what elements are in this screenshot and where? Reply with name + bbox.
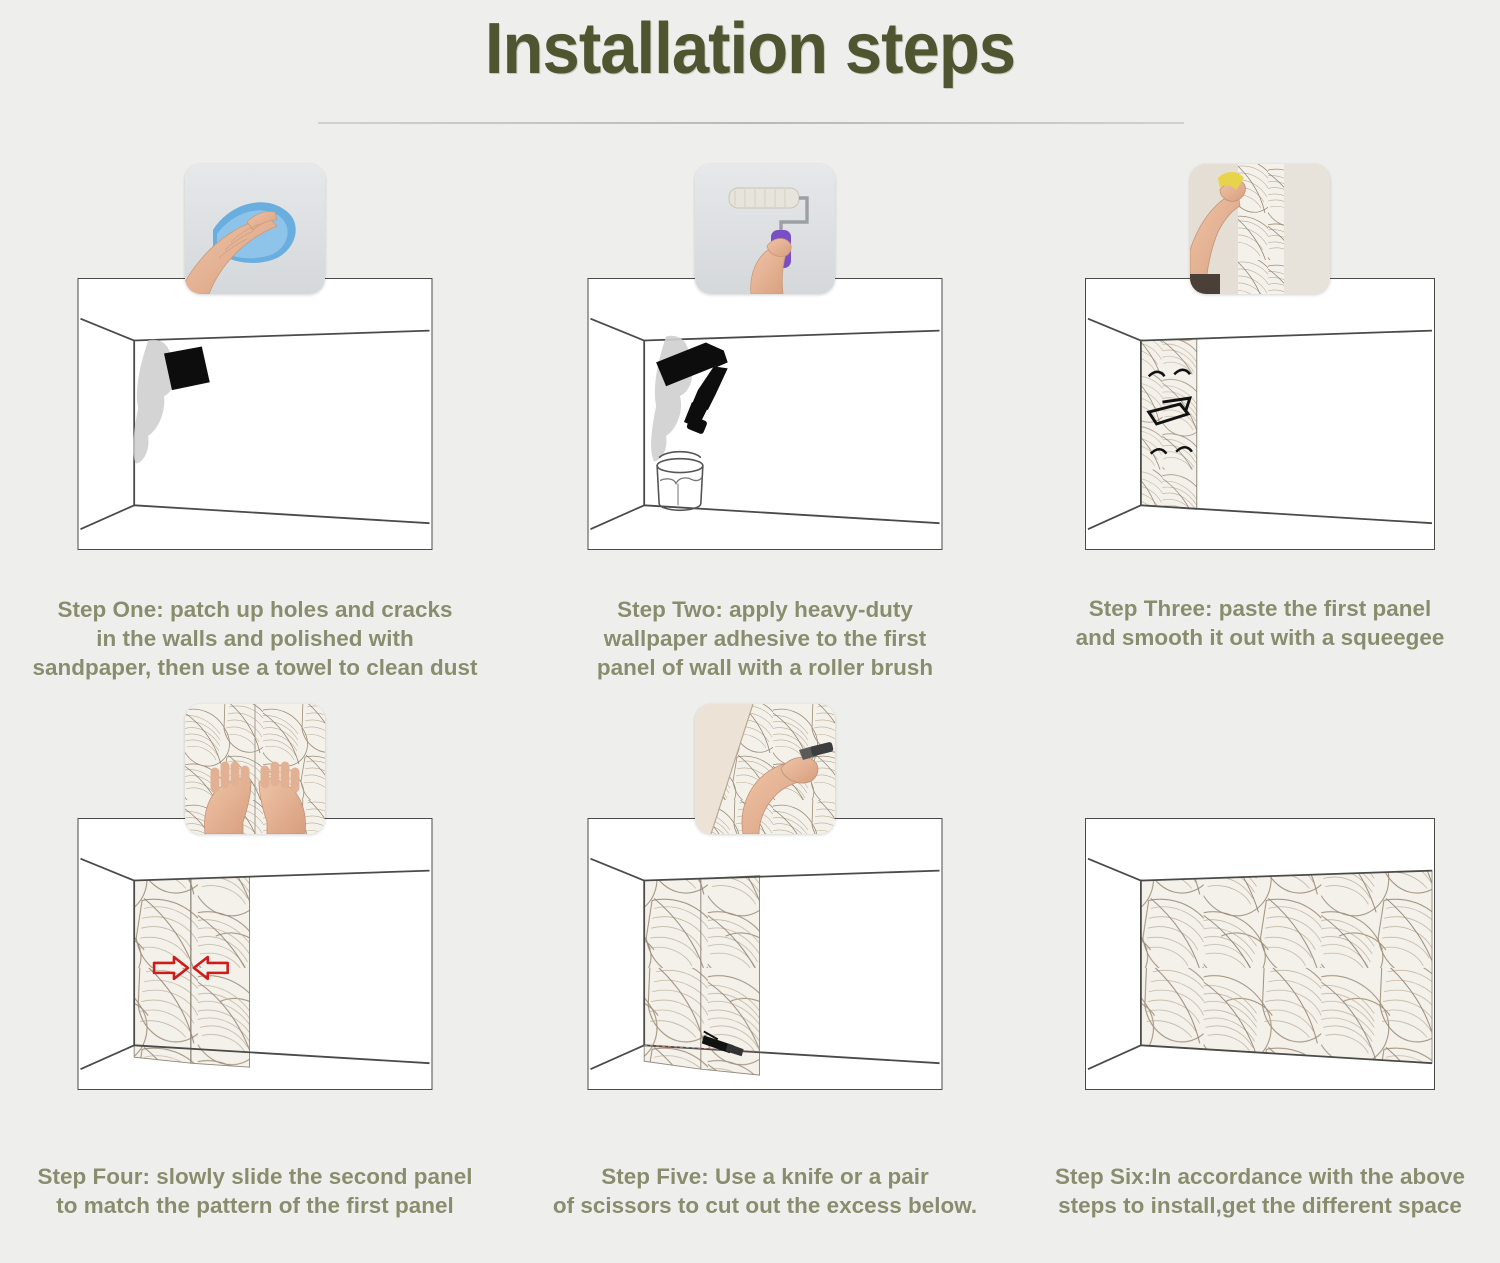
room-diagram-one <box>78 278 433 550</box>
step-five-caption: Step Five: Use a knife or a pair of scis… <box>510 1162 1020 1220</box>
paint-bucket-icon <box>657 452 703 511</box>
caption-line: panel of wall with a roller brush <box>516 653 1014 682</box>
step-six-caption: Step Six:In accordance with the above st… <box>1020 1162 1500 1220</box>
wallpaper-panel-first <box>644 879 701 1070</box>
caption-line: Step Six:In accordance with the above <box>1026 1162 1494 1191</box>
room-diagram-six <box>1085 818 1435 1090</box>
installation-steps-infographic: Installation steps <box>0 0 1500 1263</box>
step-card-one: Step One: patch up holes and cracks in t… <box>0 150 510 690</box>
caption-line: in the walls and polished with <box>6 624 504 653</box>
caption-line: and smooth it out with a squeegee <box>1026 623 1494 652</box>
step-card-four: Step Four: slowly slide the second panel… <box>0 690 510 1230</box>
step-four-illustration <box>0 690 510 1120</box>
step-six-illustration <box>1020 690 1500 1120</box>
room-diagram-four <box>78 818 433 1090</box>
step-one-illustration <box>0 150 510 580</box>
wallpaper-panel-first <box>1141 339 1197 510</box>
caption-line: sandpaper, then use a towel to clean dus… <box>6 653 504 682</box>
step-card-three: Step Three: paste the first panel and sm… <box>1020 150 1500 690</box>
page-title: Installation steps <box>53 8 1448 90</box>
thumbnail-paint-roller <box>695 164 835 294</box>
step-four-caption: Step Four: slowly slide the second panel… <box>0 1162 510 1220</box>
caption-line: Step Three: paste the first panel <box>1026 594 1494 623</box>
steps-grid: Step One: patch up holes and cracks in t… <box>0 150 1500 1255</box>
step-card-six: Step Six:In accordance with the above st… <box>1020 690 1500 1230</box>
caption-line: Step Two: apply heavy-duty <box>516 595 1014 624</box>
header-divider <box>318 122 1184 124</box>
thumbnail-hand-with-blue-cloth <box>185 164 325 294</box>
caption-line: of scissors to cut out the excess below. <box>516 1191 1014 1220</box>
caption-line: Step One: patch up holes and cracks <box>6 595 504 624</box>
room-diagram-three <box>1085 278 1435 550</box>
thumbnail-hand-cutting-wallpaper <box>695 704 835 834</box>
room-diagram-five <box>588 818 943 1090</box>
caption-line: Step Four: slowly slide the second panel <box>6 1162 504 1191</box>
caption-line: steps to install,get the different space <box>1026 1191 1494 1220</box>
thumbnail-two-hands-smoothing-seam <box>185 704 325 834</box>
step-two-illustration <box>510 150 1020 580</box>
step-card-two: Step Two: apply heavy-duty wallpaper adh… <box>510 150 1020 690</box>
wallpaper-full-wall <box>1141 871 1432 1064</box>
step-card-five: Step Five: Use a knife or a pair of scis… <box>510 690 1020 1230</box>
caption-line: wallpaper adhesive to the first <box>516 624 1014 653</box>
thumbnail-person-applying-wallpaper <box>1190 164 1330 294</box>
step-two-caption: Step Two: apply heavy-duty wallpaper adh… <box>510 595 1020 682</box>
step-five-illustration <box>510 690 1020 1120</box>
step-one-caption: Step One: patch up holes and cracks in t… <box>0 595 510 682</box>
step-three-caption: Step Three: paste the first panel and sm… <box>1020 594 1500 652</box>
caption-line: to match the pattern of the first panel <box>6 1191 504 1220</box>
step-three-illustration <box>1020 150 1500 580</box>
room-diagram-two <box>588 278 943 550</box>
sponge-tool-icon <box>164 347 210 391</box>
caption-line: Step Five: Use a knife or a pair <box>516 1162 1014 1191</box>
